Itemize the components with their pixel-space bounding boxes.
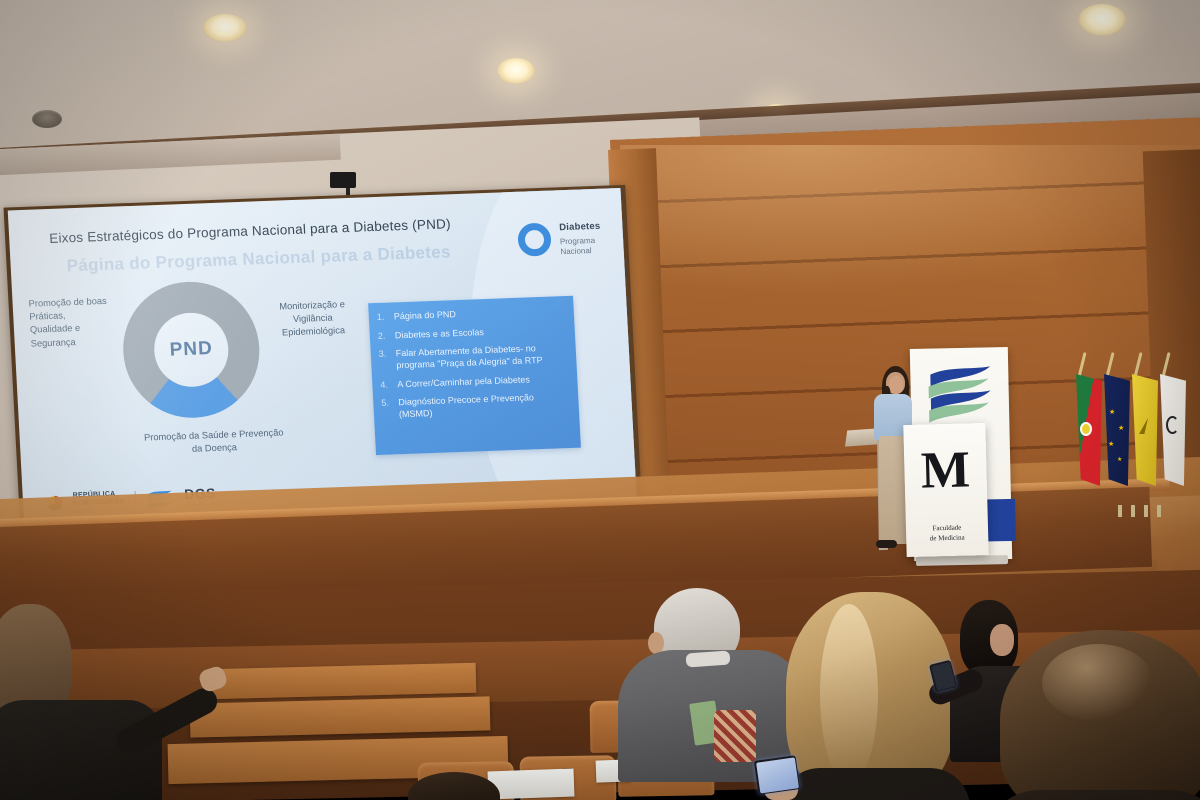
diagram-label-bottom: Promoção da Saúde e Prevenção da Doença [140, 426, 289, 458]
portugal-flag [1076, 374, 1102, 486]
speaker-shoe [876, 540, 897, 548]
list-item: 3. Falar Abertamente da Diabetes- no pro… [379, 342, 567, 372]
person-scalp-highlight [1042, 644, 1154, 722]
institution-logo-icon [922, 363, 997, 429]
phone-screen [931, 662, 955, 691]
person-hair-highlight [820, 604, 878, 784]
diagram-label-right: Monitorização e Vigilância Epidemiológic… [271, 298, 355, 341]
slide-ghost-title: Página do Programa Nacional para a Diabe… [66, 241, 487, 277]
list-number: 2. [378, 330, 389, 342]
person-face [990, 624, 1014, 656]
person-patterned-scarf [714, 710, 756, 762]
projector-mount-plate [330, 172, 356, 188]
ceiling-light-on [203, 14, 247, 42]
smartphone[interactable] [754, 755, 800, 795]
slide-numbered-list: 1. Página do PND 2. Diabetes e as Escola… [368, 296, 581, 455]
brand-subtitle: Programa Nacional [560, 236, 602, 257]
auditorium-photo: Página do Programa Nacional para a Diabe… [0, 0, 1200, 800]
person-top [780, 768, 970, 800]
ceiling-light-off [32, 110, 62, 128]
ceiling-light-on [1078, 4, 1126, 36]
flag-display: ★ ★ ★ ★ [1074, 352, 1194, 512]
seat-paper [488, 769, 575, 800]
podium-letter: M [920, 449, 970, 493]
list-text: Falar Abertamente da Diabetes- no progra… [396, 342, 567, 372]
list-text: Diabetes e as Escolas [395, 327, 485, 342]
speaker-face [889, 376, 903, 394]
stand-leg [1131, 505, 1135, 517]
european-union-flag: ★ ★ ★ ★ [1104, 374, 1130, 486]
list-number: 3. [379, 349, 390, 373]
podium-faculty-name: Faculdade de Medicina [906, 523, 988, 544]
list-item: 1. Página do PND [377, 305, 565, 324]
brand-name: Diabetes [559, 221, 601, 233]
list-number: 1. [377, 312, 388, 324]
yellow-institutional-flag [1132, 374, 1158, 486]
diagram-label-left: Promoção de boas Práticas, Qualidade e S… [28, 295, 111, 351]
list-text: Diagnóstico Precoce e Prevenção (MSMD) [398, 391, 569, 421]
diabetes-program-logo: Diabetes Programa Nacional [517, 221, 602, 259]
list-item: 2. Diabetes e as Escolas [378, 324, 566, 343]
list-number: 5. [381, 398, 392, 422]
list-text: A Correr/Caminhar pela Diabetes [397, 374, 530, 391]
white-institutional-flag [1160, 374, 1186, 486]
stand-leg [1118, 505, 1122, 517]
list-number: 4. [380, 379, 391, 391]
list-item: 5. Diagnóstico Precoce e Prevenção (MSMD… [381, 391, 569, 421]
podium-sign: M Faculdade de Medicina [903, 423, 988, 557]
rollup-banner-base [916, 555, 1008, 566]
podium-line2: de Medicina [906, 532, 988, 544]
list-text: Página do PND [394, 309, 457, 323]
ceiling-light-on [497, 58, 535, 84]
phone-screen [756, 757, 799, 793]
list-item: 4. A Correr/Caminhar pela Diabetes [380, 373, 568, 392]
speaker-trousers [879, 436, 907, 544]
flag-stand [1118, 505, 1162, 517]
stand-leg [1144, 505, 1148, 517]
ring-icon [517, 223, 552, 257]
stand-leg [1157, 505, 1161, 517]
pnd-donut-diagram: PND [120, 279, 263, 420]
